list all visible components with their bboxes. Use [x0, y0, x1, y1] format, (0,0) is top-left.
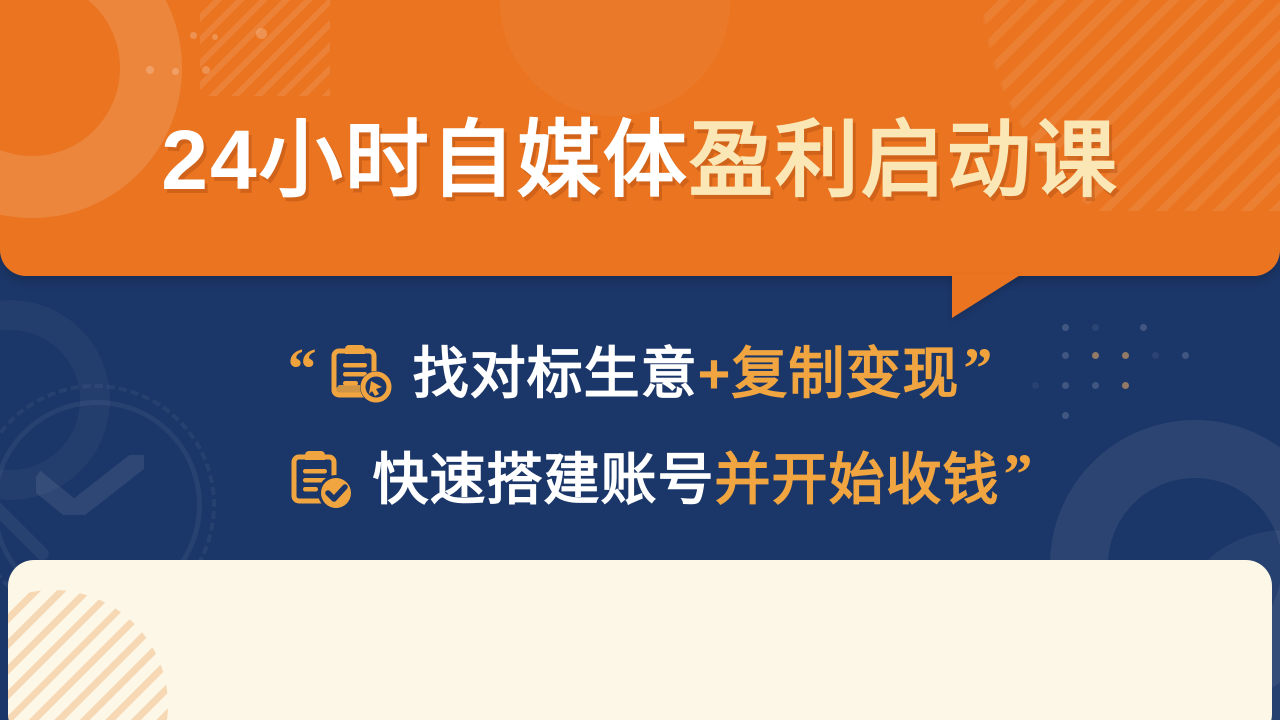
title-white-part: 24小时自媒体 — [161, 113, 688, 207]
clipboard-check-icon — [285, 443, 359, 517]
speech-bubble-tail — [952, 274, 1022, 318]
quote-open-icon: “ — [288, 340, 317, 398]
page-title: 24小时自媒体盈利启动课 — [0, 118, 1280, 202]
dot-cluster-decor — [150, 14, 280, 74]
orange-blob-decor — [500, 0, 730, 116]
line1-orange-text: +复制变现 — [698, 342, 960, 405]
striped-circle-decor — [8, 590, 168, 720]
poster-root: 24小时自媒体盈利启动课 “ 找对标生意+复制变现 ” “ — [0, 0, 1280, 720]
bottom-content-card — [8, 560, 1272, 720]
subtitle-line-2: “ 快速搭建账号并开始收钱 ” — [0, 442, 1280, 518]
subtitle-line-1: “ 找对标生意+复制变现 ” — [0, 336, 1280, 412]
clipboard-cursor-icon — [325, 337, 399, 411]
line1-white-text: 找对标生意 — [413, 342, 698, 405]
line2-orange-text: 并开始收钱 — [715, 448, 1000, 511]
quote-close-icon-2: ” — [1004, 446, 1033, 504]
line2-white-text: 快速搭建账号 — [373, 448, 715, 511]
quote-close-icon: ” — [963, 340, 992, 398]
title-cream-part: 盈利启动课 — [689, 113, 1119, 207]
